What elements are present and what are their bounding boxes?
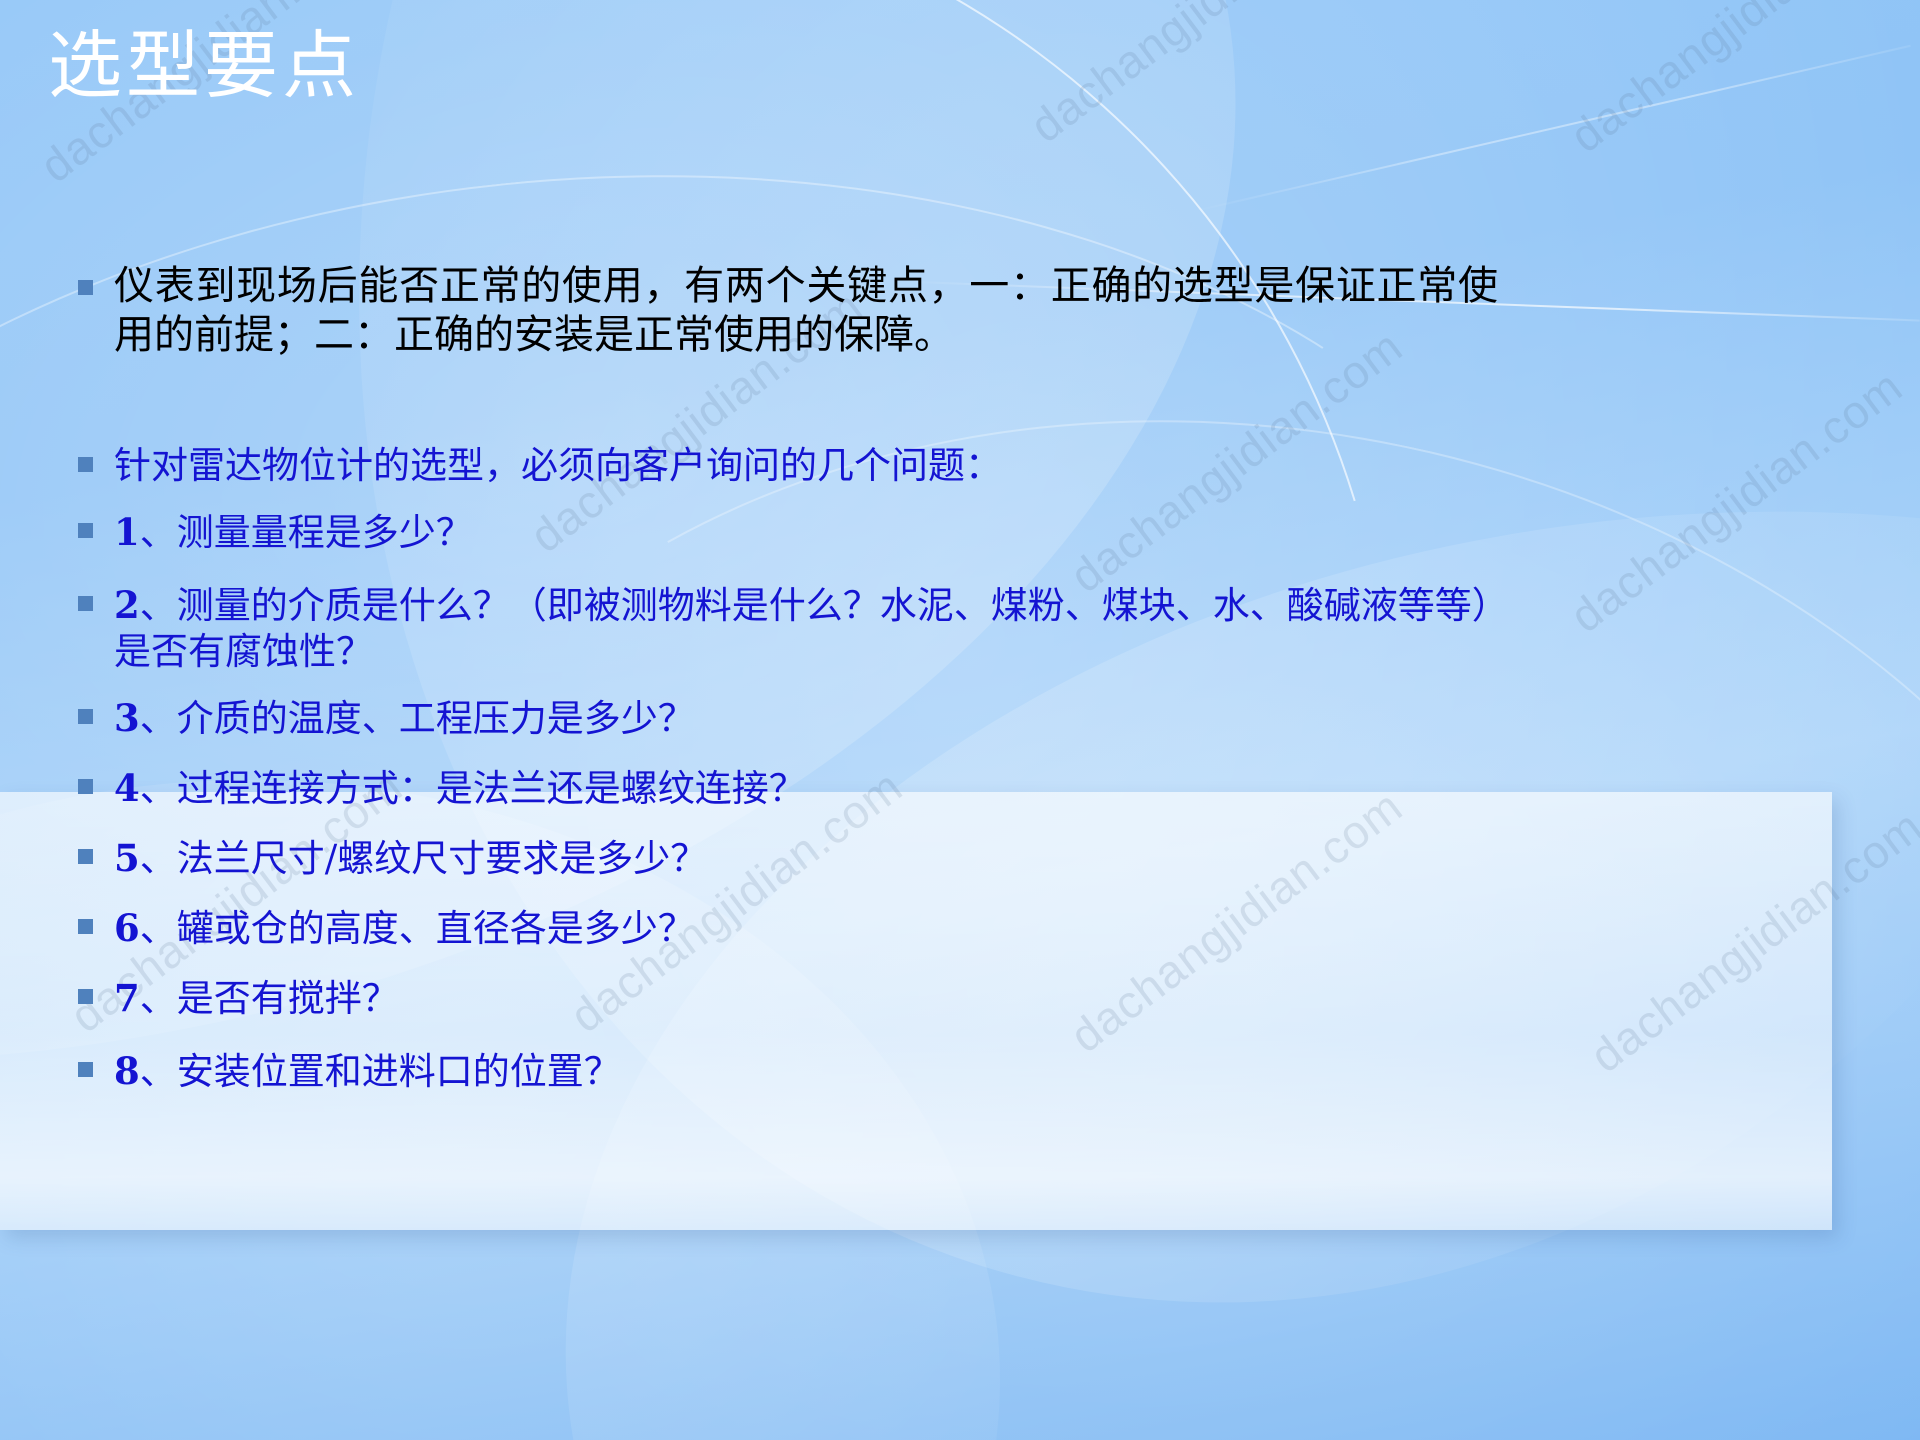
paragraph-intro-text: 针对雷达物位计的选型，必须向客户询问的几个问题： bbox=[114, 443, 1002, 489]
bullet-square-icon bbox=[78, 779, 93, 794]
question-separator: 、 bbox=[140, 907, 177, 950]
question-separator: 、 bbox=[140, 511, 177, 554]
question-number: 5 bbox=[114, 836, 140, 880]
question-text: 安装位置和进料口的位置？ bbox=[177, 1050, 621, 1093]
question-number: 1 bbox=[114, 510, 140, 554]
question-item-3: 3、介质的温度、工程压力是多少？ bbox=[78, 695, 1578, 742]
question-item-7: 7、是否有搅拌？ bbox=[78, 975, 1578, 1022]
question-item-1: 1、测量量程是多少？ bbox=[78, 509, 1578, 556]
question-number: 4 bbox=[114, 766, 140, 810]
bullet-square-icon bbox=[78, 919, 93, 934]
bullet-paragraph-overview: 仪表到现场后能否正常的使用，有两个关键点，一：正确的选型是保证正常使用的前提；二… bbox=[78, 262, 1498, 360]
question-separator: 、 bbox=[140, 1050, 177, 1093]
bullet-square-icon bbox=[78, 709, 93, 724]
question-item-5: 5、法兰尺寸/螺纹尺寸要求是多少？ bbox=[78, 835, 1578, 882]
slide-canvas: dachangjidian.com dachangjidian.com dach… bbox=[0, 0, 1920, 1440]
question-text: 介质的温度、工程压力是多少？ bbox=[177, 697, 695, 740]
question-text: 测量量程是多少？ bbox=[177, 511, 473, 554]
question-item-6: 6、罐或仓的高度、直径各是多少？ bbox=[78, 905, 1578, 952]
bullet-square-icon bbox=[78, 596, 93, 611]
question-item-8: 8、安装位置和进料口的位置？ bbox=[78, 1048, 1578, 1095]
question-number: 3 bbox=[114, 696, 140, 740]
page-title: 选型要点 bbox=[48, 26, 360, 107]
bullet-square-icon bbox=[78, 523, 93, 538]
slide-content: 选型要点 仪表到现场后能否正常的使用，有两个关键点，一：正确的选型是保证正常使用… bbox=[0, 0, 1920, 1440]
question-text: 是否有搅拌？ bbox=[177, 977, 399, 1020]
bullet-square-icon bbox=[78, 1062, 93, 1077]
question-text: 法兰尺寸/螺纹尺寸要求是多少？ bbox=[177, 837, 707, 880]
question-number: 8 bbox=[114, 1049, 140, 1093]
question-separator: 、 bbox=[140, 584, 177, 627]
bullet-square-icon bbox=[78, 989, 93, 1004]
bullet-square-icon bbox=[78, 457, 93, 472]
question-number: 6 bbox=[114, 906, 140, 950]
question-text: 测量的介质是什么？（即被测物料是什么？水泥、煤粉、煤块、水、酸碱液等等）是否有腐… bbox=[114, 584, 1490, 673]
bullet-square-icon bbox=[78, 280, 93, 295]
question-number: 2 bbox=[114, 583, 140, 627]
question-text: 罐或仓的高度、直径各是多少？ bbox=[177, 907, 695, 950]
question-item-4: 4、过程连接方式：是法兰还是螺纹连接？ bbox=[78, 765, 1578, 812]
question-separator: 、 bbox=[140, 767, 177, 810]
bullet-paragraph-intro: 针对雷达物位计的选型，必须向客户询问的几个问题： bbox=[78, 443, 1578, 489]
paragraph-overview-text: 仪表到现场后能否正常的使用，有两个关键点，一：正确的选型是保证正常使用的前提；二… bbox=[114, 262, 1498, 360]
question-separator: 、 bbox=[140, 697, 177, 740]
question-item-2: 2、测量的介质是什么？（即被测物料是什么？水泥、煤粉、煤块、水、酸碱液等等）是否… bbox=[78, 582, 1498, 676]
question-separator: 、 bbox=[140, 837, 177, 880]
question-text: 过程连接方式：是法兰还是螺纹连接？ bbox=[177, 767, 806, 810]
question-separator: 、 bbox=[140, 977, 177, 1020]
question-number: 7 bbox=[114, 976, 140, 1020]
bullet-square-icon bbox=[78, 849, 93, 864]
